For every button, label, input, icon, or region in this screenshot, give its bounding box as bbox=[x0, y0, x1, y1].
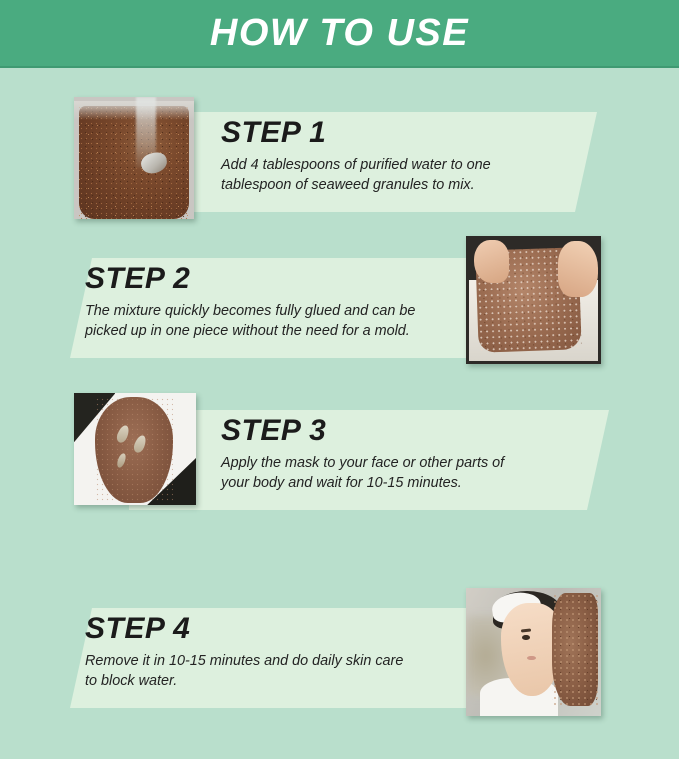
step-title-1: STEP 1 bbox=[221, 112, 581, 148]
steps-board: STEP 1 Add 4 tablespoons of purified wat… bbox=[0, 68, 679, 679]
step-title-2: STEP 2 bbox=[85, 258, 465, 294]
step-title-3: STEP 3 bbox=[221, 410, 591, 446]
step-description-1: Add 4 tablespoons of purified water to o… bbox=[221, 155, 581, 196]
step-text-4: STEP 4 Remove it in 10-15 minutes and do… bbox=[85, 608, 465, 759]
step-row-2: STEP 2 The mixture quickly becomes fully… bbox=[0, 228, 679, 383]
step-image-4 bbox=[466, 588, 601, 716]
step-row-4: STEP 4 Remove it in 10-15 minutes and do… bbox=[0, 528, 679, 679]
step-description-2: The mixture quickly becomes fully glued … bbox=[85, 301, 465, 342]
page-header: HOW TO USE bbox=[0, 0, 679, 68]
step-row-3: STEP 3 Apply the mask to your face or ot… bbox=[0, 380, 679, 532]
step-image-2 bbox=[466, 236, 601, 364]
step-description-4: Remove it in 10-15 minutes and do daily … bbox=[85, 651, 465, 692]
page-title: HOW TO USE bbox=[210, 14, 469, 52]
step-description-3: Apply the mask to your face or other par… bbox=[221, 453, 591, 494]
step-title-4: STEP 4 bbox=[85, 608, 465, 644]
step-row-1: STEP 1 Add 4 tablespoons of purified wat… bbox=[0, 80, 679, 232]
step-image-3 bbox=[74, 393, 196, 505]
step-image-1 bbox=[74, 97, 194, 219]
